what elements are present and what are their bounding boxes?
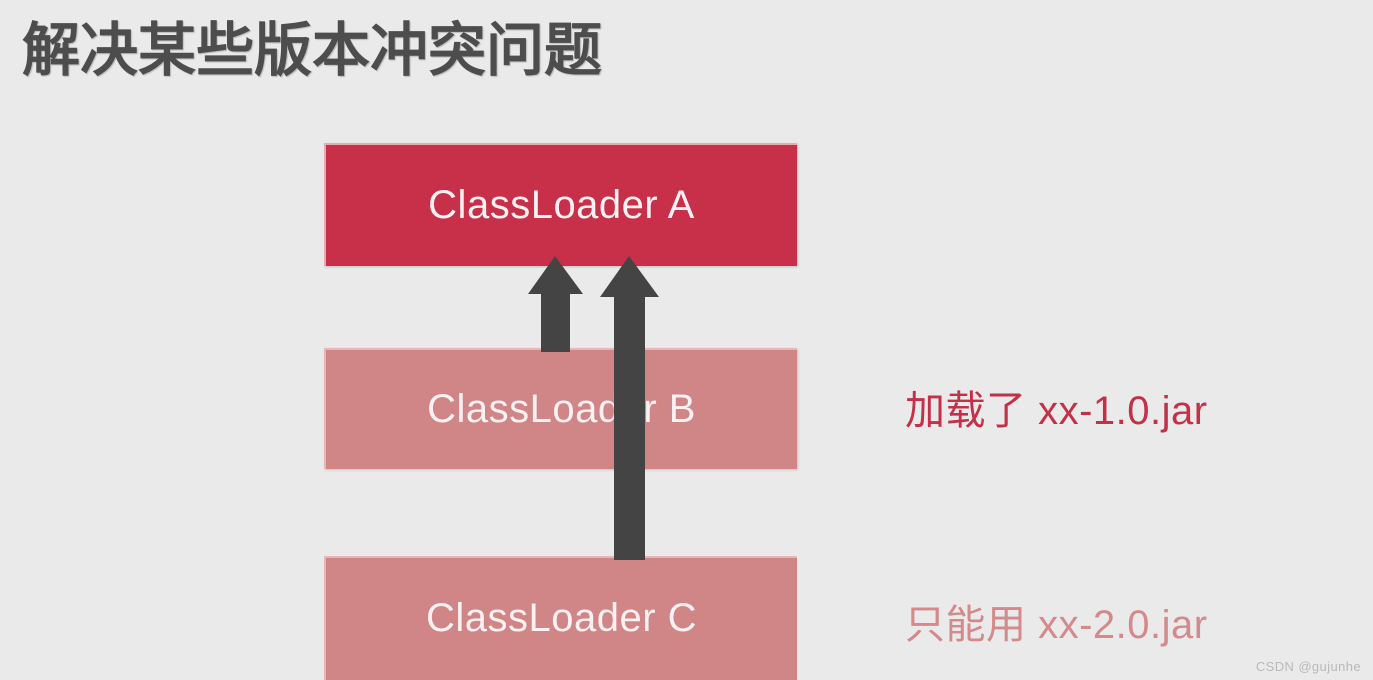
classloader-c-label: ClassLoader C — [426, 596, 697, 641]
page-title: 解决某些版本冲突问题 — [22, 17, 602, 85]
classloader-b-box: ClassLoader B — [324, 348, 797, 469]
arrow-b-to-a-icon — [528, 256, 583, 352]
classloader-c-box: ClassLoader C — [324, 556, 797, 680]
note-classloader-b: 加载了 xx-1.0.jar — [905, 378, 1208, 436]
slide-canvas: 解决某些版本冲突问题 ClassLoader A ClassLoader B C… — [0, 0, 1373, 680]
classloader-a-label: ClassLoader A — [428, 183, 695, 228]
classloader-a-box: ClassLoader A — [324, 143, 797, 266]
classloader-b-label: ClassLoader B — [427, 387, 696, 432]
watermark: CSDN @gujunhe — [1256, 659, 1361, 674]
note-classloader-c: 只能用 xx-2.0.jar — [905, 592, 1208, 650]
